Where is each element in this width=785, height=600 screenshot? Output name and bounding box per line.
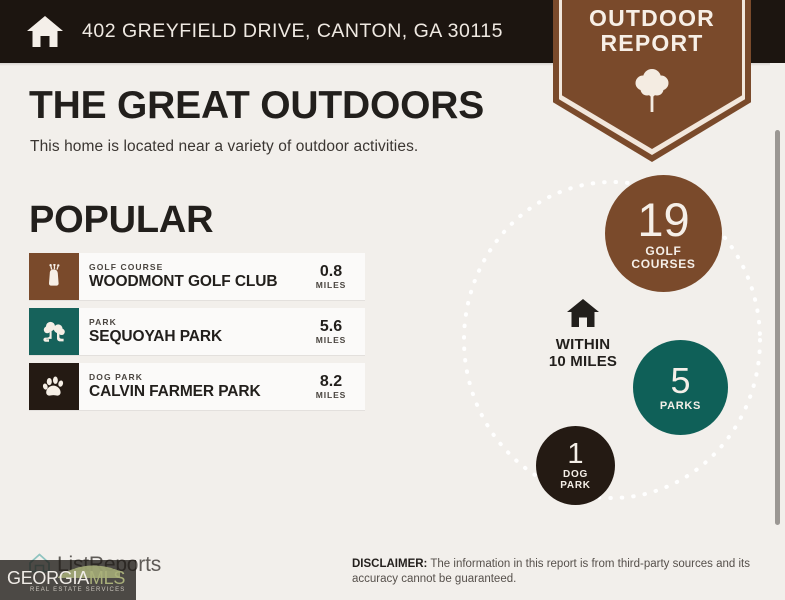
home-icon bbox=[26, 15, 64, 48]
list-item-name: CALVIN FARMER PARK bbox=[89, 383, 303, 401]
outdoor-report-page: 402 GREYFIELD DRIVE, CANTON, GA 30115 OU… bbox=[0, 0, 785, 600]
list-item-distance: 8.2 MILES bbox=[303, 363, 365, 410]
bubble-count: 1 bbox=[567, 440, 583, 469]
popular-list: GOLF COURSE WOODMONT GOLF CLUB 0.8 MILES bbox=[29, 253, 365, 418]
popular-heading: POPULAR bbox=[29, 199, 213, 242]
within-radius-label: WITHIN 10 MILES bbox=[528, 298, 638, 370]
watermark-part1: GEORGIA bbox=[7, 568, 89, 588]
scrollbar-track[interactable] bbox=[770, 63, 785, 600]
within-line1: WITHIN bbox=[528, 336, 638, 353]
badge-title-line2: REPORT bbox=[553, 31, 751, 56]
list-item-text: PARK SEQUOYAH PARK bbox=[79, 308, 303, 355]
bubble-count: 5 bbox=[670, 363, 690, 399]
distance-value: 8.2 bbox=[320, 373, 342, 390]
golf-bag-icon bbox=[29, 253, 79, 300]
bubble-parks: 5 PARKS bbox=[633, 340, 728, 435]
watermark-wordmark: GEORGIAMLS bbox=[7, 568, 125, 588]
scrollbar-thumb[interactable] bbox=[775, 130, 780, 525]
nearby-counts-infographic: WITHIN 10 MILES 19 GOLF COURSES 5 PARKS … bbox=[440, 150, 785, 540]
list-item-text: DOG PARK CALVIN FARMER PARK bbox=[79, 363, 303, 410]
paw-print-icon bbox=[29, 363, 79, 410]
distance-value: 5.6 bbox=[320, 318, 342, 335]
bubble-dog-park: 1 DOG PARK bbox=[536, 426, 615, 505]
list-item-distance: 0.8 MILES bbox=[303, 253, 365, 300]
disclaimer-label: DISCLAIMER: bbox=[352, 558, 427, 570]
list-item-category: DOG PARK bbox=[89, 372, 303, 383]
header-content: 402 GREYFIELD DRIVE, CANTON, GA 30115 bbox=[26, 0, 503, 63]
distance-unit: MILES bbox=[316, 280, 346, 291]
list-item-name: SEQUOYAH PARK bbox=[89, 328, 303, 346]
list-item-name: WOODMONT GOLF CLUB bbox=[89, 273, 303, 291]
badge-title: OUTDOOR REPORT bbox=[553, 6, 751, 56]
bubble-label-line2: PARK bbox=[560, 481, 590, 492]
list-item[interactable]: GOLF COURSE WOODMONT GOLF CLUB 0.8 MILES bbox=[29, 253, 365, 300]
bubble-count: 19 bbox=[637, 196, 689, 243]
watermark-part2: MLS bbox=[89, 568, 125, 588]
disclaimer: DISCLAIMER: The information in this repo… bbox=[352, 557, 770, 586]
list-item-text: GOLF COURSE WOODMONT GOLF CLUB bbox=[79, 253, 303, 300]
within-line2: 10 MILES bbox=[528, 353, 638, 370]
tree-icon bbox=[553, 66, 751, 119]
distance-value: 0.8 bbox=[320, 263, 342, 280]
list-item-distance: 5.6 MILES bbox=[303, 308, 365, 355]
bubble-label-line1: DOG bbox=[563, 470, 588, 481]
badge-title-line1: OUTDOOR bbox=[553, 6, 751, 31]
bubble-golf-courses: 19 GOLF COURSES bbox=[605, 175, 722, 292]
trees-icon bbox=[29, 308, 79, 355]
page-title: THE GREAT OUTDOORS bbox=[29, 86, 484, 126]
property-address: 402 GREYFIELD DRIVE, CANTON, GA 30115 bbox=[82, 20, 503, 43]
distance-unit: MILES bbox=[316, 335, 346, 346]
georgia-mls-watermark: GEORGIAMLS REAL ESTATE SERVICES bbox=[0, 560, 136, 600]
list-item[interactable]: DOG PARK CALVIN FARMER PARK 8.2 MILES bbox=[29, 363, 365, 410]
home-icon bbox=[528, 298, 638, 328]
distance-unit: MILES bbox=[316, 390, 346, 401]
watermark-tagline: REAL ESTATE SERVICES bbox=[30, 587, 125, 593]
list-item-category: PARK bbox=[89, 317, 303, 328]
page-subtitle: This home is located near a variety of o… bbox=[30, 138, 418, 156]
bubble-label-line1: PARKS bbox=[660, 401, 701, 413]
bubble-label-line2: COURSES bbox=[631, 258, 695, 271]
list-item-category: GOLF COURSE bbox=[89, 262, 303, 273]
list-item[interactable]: PARK SEQUOYAH PARK 5.6 MILES bbox=[29, 308, 365, 355]
